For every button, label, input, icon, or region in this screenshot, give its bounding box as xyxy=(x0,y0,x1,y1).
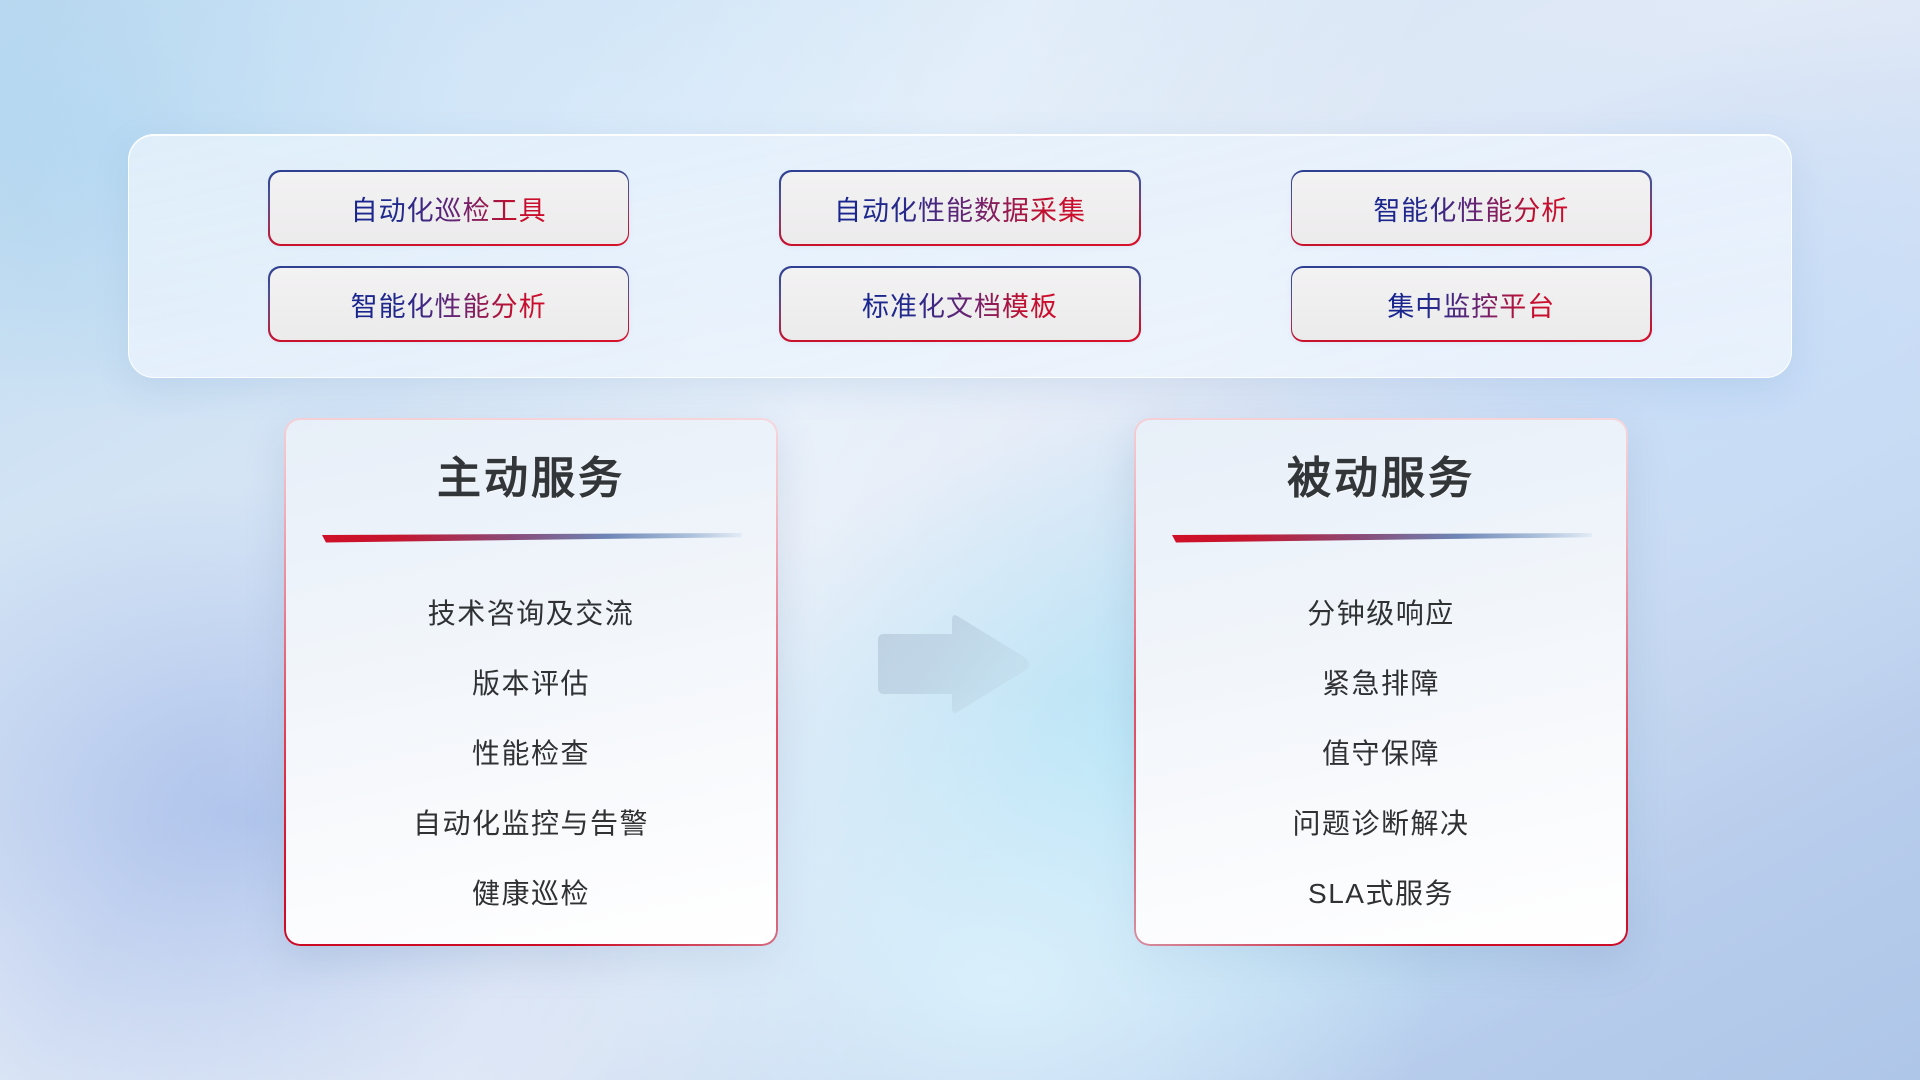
list-item: 分钟级响应 xyxy=(1307,579,1455,649)
proactive-service-list: 技术咨询及交流 版本评估 性能检查 自动化监控与告警 健康巡检 xyxy=(286,579,776,929)
list-item: 自动化监控与告警 xyxy=(413,789,649,859)
list-item: 问题诊断解决 xyxy=(1292,789,1469,859)
chip-intelligent-perf-analysis-b[interactable]: 智能化性能分析 xyxy=(270,268,628,340)
chip-auto-perf-data-collection[interactable]: 自动化性能数据采集 xyxy=(781,172,1139,244)
chip-row-1: 自动化巡检工具 自动化性能数据采集 智能化性能分析 xyxy=(129,172,1791,244)
list-item: SLA式服务 xyxy=(1308,859,1454,929)
chip-label: 智能化性能分析 xyxy=(1373,189,1569,228)
list-item: 健康巡检 xyxy=(472,859,590,929)
list-item: 版本评估 xyxy=(472,649,590,719)
flow-arrow-icon xyxy=(872,610,1032,718)
card-title: 被动服务 xyxy=(1287,454,1475,505)
title-divider xyxy=(320,531,742,547)
reactive-service-card[interactable]: 被动服务 xyxy=(1134,418,1628,946)
chip-auto-inspection-tool[interactable]: 自动化巡检工具 xyxy=(270,172,628,244)
title-divider xyxy=(1170,531,1592,547)
chip-intelligent-perf-analysis-a[interactable]: 智能化性能分析 xyxy=(1292,172,1650,244)
chip-row-2: 智能化性能分析 标准化文档模板 集中监控平台 xyxy=(129,268,1791,340)
list-item: 值守保障 xyxy=(1322,719,1440,789)
capability-chip-panel: 自动化巡检工具 自动化性能数据采集 智能化性能分析 智能化性能分析 标准化文档模… xyxy=(128,134,1792,378)
list-item: 技术咨询及交流 xyxy=(428,579,635,649)
chip-label: 自动化性能数据采集 xyxy=(834,189,1086,228)
proactive-service-card[interactable]: 主动服务 xyxy=(284,418,778,946)
chip-label: 集中监控平台 xyxy=(1387,285,1555,324)
card-title: 主动服务 xyxy=(437,454,625,505)
chip-centralized-monitoring-platform[interactable]: 集中监控平台 xyxy=(1292,268,1650,340)
list-item: 紧急排障 xyxy=(1322,649,1440,719)
card-body: 被动服务 xyxy=(1136,420,1626,944)
chip-label: 智能化性能分析 xyxy=(351,285,547,324)
list-item: 性能检查 xyxy=(472,719,590,789)
chip-label: 自动化巡检工具 xyxy=(351,189,547,228)
slide-canvas: 自动化巡检工具 自动化性能数据采集 智能化性能分析 智能化性能分析 标准化文档模… xyxy=(0,0,1920,1080)
reactive-service-list: 分钟级响应 紧急排障 值守保障 问题诊断解决 SLA式服务 xyxy=(1136,579,1626,929)
chip-label: 标准化文档模板 xyxy=(862,285,1058,324)
card-body: 主动服务 xyxy=(286,420,776,944)
chip-standard-doc-template[interactable]: 标准化文档模板 xyxy=(781,268,1139,340)
